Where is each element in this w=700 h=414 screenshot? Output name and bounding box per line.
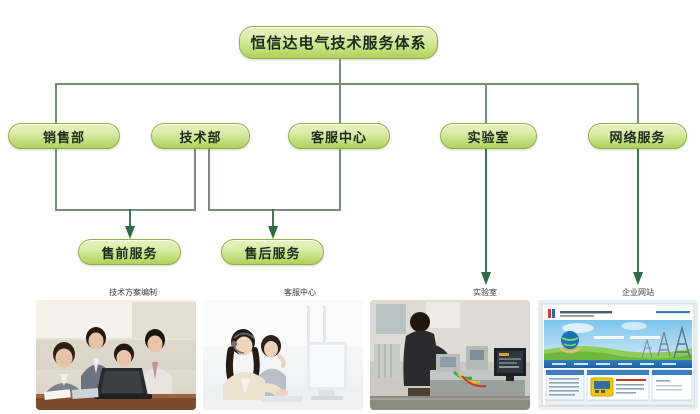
arrowhead-network [633,272,643,285]
node-laboratory[interactable]: 实验室 [440,123,537,149]
connector-bus-to-sales [55,83,57,124]
node-technical-department-label: 技术部 [179,127,221,146]
arrowhead-laboratory [481,272,491,285]
node-technical-department[interactable]: 技术部 [151,123,250,149]
connector-bus-to-lab [485,83,487,124]
caption-company-website: 企业网站 [578,287,698,298]
connector-technical-down-right [208,149,210,211]
node-network-service-label: 网络服务 [609,127,665,146]
caption-service-center: 客服中心 [240,287,360,298]
connector-bus-to-network [637,83,639,124]
photo-company-website[interactable] [538,300,698,410]
connector-bridge-presales [55,209,196,211]
node-sales-department[interactable]: 销售部 [8,123,120,149]
caption-technical-plan: 技术方案编制 [73,287,193,298]
connector-bus [55,83,638,85]
connector-sales-down [55,149,57,211]
node-root-label: 恒信达电气技术服务体系 [250,32,426,53]
node-root[interactable]: 恒信达电气技术服务体系 [239,26,438,59]
arrowhead-presales [125,226,135,239]
org-chart-diagram: 恒信达电气技术服务体系 销售部 技术部 客服中心 实验室 网络服务 售前服务 售… [0,0,700,414]
node-service-center[interactable]: 客服中心 [288,123,390,149]
node-after-sales-service-label: 售后服务 [244,243,300,262]
connector-bridge-aftersales [208,209,341,211]
connector-root-down [339,59,341,83]
connector-arrow-laboratory [485,149,487,275]
node-after-sales-service[interactable]: 售后服务 [221,239,324,265]
photo-service-center-image [203,300,363,410]
node-pre-sales-service-label: 售前服务 [101,243,157,262]
caption-laboratory: 实验室 [425,287,545,298]
connector-service-center-down [339,149,341,211]
node-pre-sales-service[interactable]: 售前服务 [78,239,181,265]
connector-technical-down-left [194,149,196,211]
node-network-service[interactable]: 网络服务 [588,123,687,149]
photo-laboratory[interactable] [370,300,530,410]
arrowhead-aftersales [268,226,278,239]
photo-technical-plan[interactable] [36,300,196,410]
photo-service-center[interactable] [203,300,363,410]
connector-arrow-network [637,149,639,275]
connector-bus-to-service-center [339,83,341,124]
photo-laboratory-image [370,300,530,410]
node-sales-department-label: 销售部 [43,127,85,146]
node-laboratory-label: 实验室 [467,127,509,146]
node-service-center-label: 客服中心 [311,127,367,146]
photo-company-website-image [538,300,698,410]
photo-technical-plan-image [36,300,196,410]
